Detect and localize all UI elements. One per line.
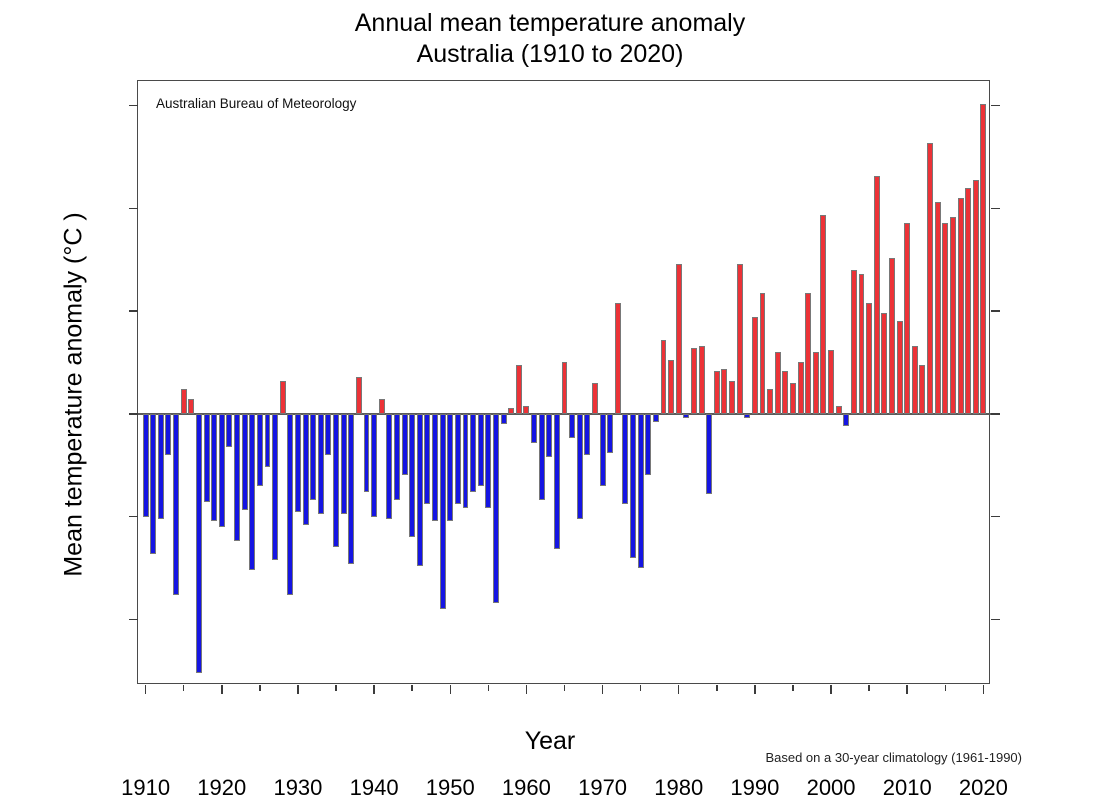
bar-1982 — [691, 348, 697, 414]
bar-1961 — [531, 414, 537, 443]
bar-1923 — [242, 414, 248, 511]
bar-1942 — [386, 414, 392, 519]
x-tick-1995 — [792, 685, 794, 691]
bar-1925 — [257, 414, 263, 486]
plot-area: Australian Bureau of Meteorology 1.51.51… — [137, 80, 990, 684]
bar-1936 — [341, 414, 347, 515]
bar-1992 — [767, 389, 773, 414]
bar-1997 — [805, 293, 811, 414]
bar-1918 — [204, 414, 210, 502]
bar-1928 — [280, 381, 286, 414]
bar-1933 — [318, 414, 324, 515]
bar-1987 — [729, 381, 735, 414]
bar-1935 — [333, 414, 339, 548]
x-tick-2015 — [945, 685, 947, 691]
bar-1981 — [683, 414, 689, 418]
bar-1913 — [165, 414, 171, 455]
bar-1922 — [234, 414, 240, 541]
bar-2000 — [828, 350, 834, 414]
y-tick-left--1 — [129, 619, 138, 621]
footnote: Based on a 30-year climatology (1961-199… — [765, 750, 1022, 765]
y-tick-right-0.5 — [991, 310, 1000, 312]
bar-1951 — [455, 414, 461, 504]
bar-1963 — [546, 414, 552, 457]
bar-1970 — [600, 414, 606, 486]
bar-1940 — [371, 414, 377, 517]
bar-1945 — [409, 414, 415, 537]
bar-1953 — [470, 414, 476, 492]
bar-1990 — [752, 317, 758, 414]
y-tick-right-1 — [991, 208, 1000, 210]
x-tick-1960 — [526, 685, 528, 694]
bar-1977 — [653, 414, 659, 422]
bar-1993 — [775, 352, 781, 414]
bar-1948 — [432, 414, 438, 521]
bar-1966 — [569, 414, 575, 439]
y-axis-title: Mean temperature anomaly (°C ) — [60, 85, 89, 705]
bar-1955 — [485, 414, 491, 509]
bar-1920 — [219, 414, 225, 527]
bar-1929 — [287, 414, 293, 595]
bar-1917 — [196, 414, 202, 673]
bar-1930 — [295, 414, 301, 513]
bar-2011 — [912, 346, 918, 414]
bar-1991 — [760, 293, 766, 414]
chart-title: Annual mean temperature anomaly — [0, 8, 1100, 39]
x-tick-1975 — [640, 685, 642, 691]
bar-1994 — [782, 371, 788, 414]
x-tick-1920 — [221, 685, 223, 694]
bar-1946 — [417, 414, 423, 566]
bar-2020 — [980, 104, 986, 414]
bar-1947 — [424, 414, 430, 504]
x-tick-2020 — [983, 685, 985, 694]
x-tick-1930 — [297, 685, 299, 694]
chart-root: Annual mean temperature anomaly Australi… — [0, 0, 1100, 778]
bar-1943 — [394, 414, 400, 500]
bar-1919 — [211, 414, 217, 521]
y-tick-right-1.5 — [991, 105, 1000, 107]
bar-1911 — [150, 414, 156, 554]
bar-1996 — [798, 362, 804, 413]
bar-1939 — [364, 414, 370, 492]
bar-1967 — [577, 414, 583, 519]
bar-2016 — [950, 217, 956, 414]
bar-1972 — [615, 303, 621, 414]
bar-1989 — [744, 414, 750, 418]
bar-2007 — [881, 313, 887, 414]
bar-1968 — [584, 414, 590, 455]
bar-2003 — [851, 270, 857, 414]
x-tick-1915 — [183, 685, 185, 691]
bar-2008 — [889, 258, 895, 414]
bar-series — [138, 81, 991, 685]
x-tick-1970 — [602, 685, 604, 694]
bar-1998 — [813, 352, 819, 414]
x-tick-1940 — [373, 685, 375, 694]
x-tick-1980 — [678, 685, 680, 694]
x-tick-1990 — [754, 685, 756, 694]
chart-subtitle: Australia (1910 to 2020) — [0, 39, 1100, 70]
bar-1978 — [661, 340, 667, 414]
bar-1979 — [668, 360, 674, 413]
bar-1986 — [721, 369, 727, 414]
y-tick-left-0.5 — [129, 310, 138, 312]
bar-1934 — [325, 414, 331, 455]
x-tick-1965 — [564, 685, 566, 691]
y-tick-left-1 — [129, 208, 138, 210]
y-tick-right-0 — [991, 413, 1000, 415]
bar-1927 — [272, 414, 278, 560]
bar-2019 — [973, 180, 979, 414]
bar-1995 — [790, 383, 796, 414]
bar-1962 — [539, 414, 545, 500]
bar-1938 — [356, 377, 362, 414]
y-tick-left--0.5 — [129, 516, 138, 518]
bar-1941 — [379, 399, 385, 413]
bar-1926 — [265, 414, 271, 467]
bar-1964 — [554, 414, 560, 550]
bar-2001 — [836, 406, 842, 414]
bar-2013 — [927, 143, 933, 414]
x-tick-1925 — [259, 685, 261, 691]
bar-1980 — [676, 264, 682, 414]
bar-1975 — [638, 414, 644, 568]
x-tick-2010 — [906, 685, 908, 694]
bar-1924 — [249, 414, 255, 570]
bar-1988 — [737, 264, 743, 414]
bar-1959 — [516, 365, 522, 414]
bar-2005 — [866, 303, 872, 414]
bar-1950 — [447, 414, 453, 521]
x-tick-1910 — [145, 685, 147, 694]
bar-2004 — [859, 274, 865, 414]
x-tick-label-2020: 2020 — [938, 775, 1028, 801]
bar-2002 — [843, 414, 849, 426]
x-tick-1935 — [335, 685, 337, 691]
bar-1944 — [402, 414, 408, 476]
bar-1960 — [523, 406, 529, 414]
bar-1973 — [622, 414, 628, 504]
bar-2012 — [919, 365, 925, 414]
bar-1914 — [173, 414, 179, 595]
bar-1937 — [348, 414, 354, 564]
bar-1956 — [493, 414, 499, 603]
x-tick-1950 — [450, 685, 452, 694]
x-tick-1985 — [716, 685, 718, 691]
bar-1910 — [143, 414, 149, 517]
bar-2018 — [965, 188, 971, 414]
bar-1931 — [303, 414, 309, 525]
bar-1916 — [188, 399, 194, 413]
bar-2017 — [958, 198, 964, 414]
bar-1965 — [562, 362, 568, 413]
bar-1949 — [440, 414, 446, 609]
bar-1976 — [645, 414, 651, 476]
bar-1921 — [226, 414, 232, 447]
bar-1969 — [592, 383, 598, 414]
bar-1984 — [706, 414, 712, 494]
bar-1915 — [181, 389, 187, 414]
bar-2009 — [897, 321, 903, 413]
x-tick-1955 — [488, 685, 490, 691]
x-tick-1945 — [411, 685, 413, 691]
bar-1974 — [630, 414, 636, 558]
bar-1983 — [699, 346, 705, 414]
x-tick-2005 — [868, 685, 870, 691]
y-axis-title-wrap: Mean temperature anomaly (°C ) — [14, 80, 58, 684]
x-tick-2000 — [830, 685, 832, 694]
bar-1912 — [158, 414, 164, 519]
bar-1958 — [508, 408, 514, 414]
bar-1952 — [463, 414, 469, 509]
bar-1957 — [501, 414, 507, 424]
bar-1954 — [478, 414, 484, 486]
bar-2010 — [904, 223, 910, 414]
bar-1971 — [607, 414, 613, 453]
y-tick-right--0.5 — [991, 516, 1000, 518]
chart-title-block: Annual mean temperature anomaly Australi… — [0, 8, 1100, 70]
bar-1985 — [714, 371, 720, 414]
bar-1999 — [820, 215, 826, 414]
bar-2014 — [935, 202, 941, 414]
bar-1932 — [310, 414, 316, 500]
y-tick-left-1.5 — [129, 105, 138, 107]
bar-2015 — [942, 223, 948, 414]
y-tick-right--1 — [991, 619, 1000, 621]
bar-2006 — [874, 176, 880, 414]
y-tick-left-0 — [129, 413, 138, 415]
